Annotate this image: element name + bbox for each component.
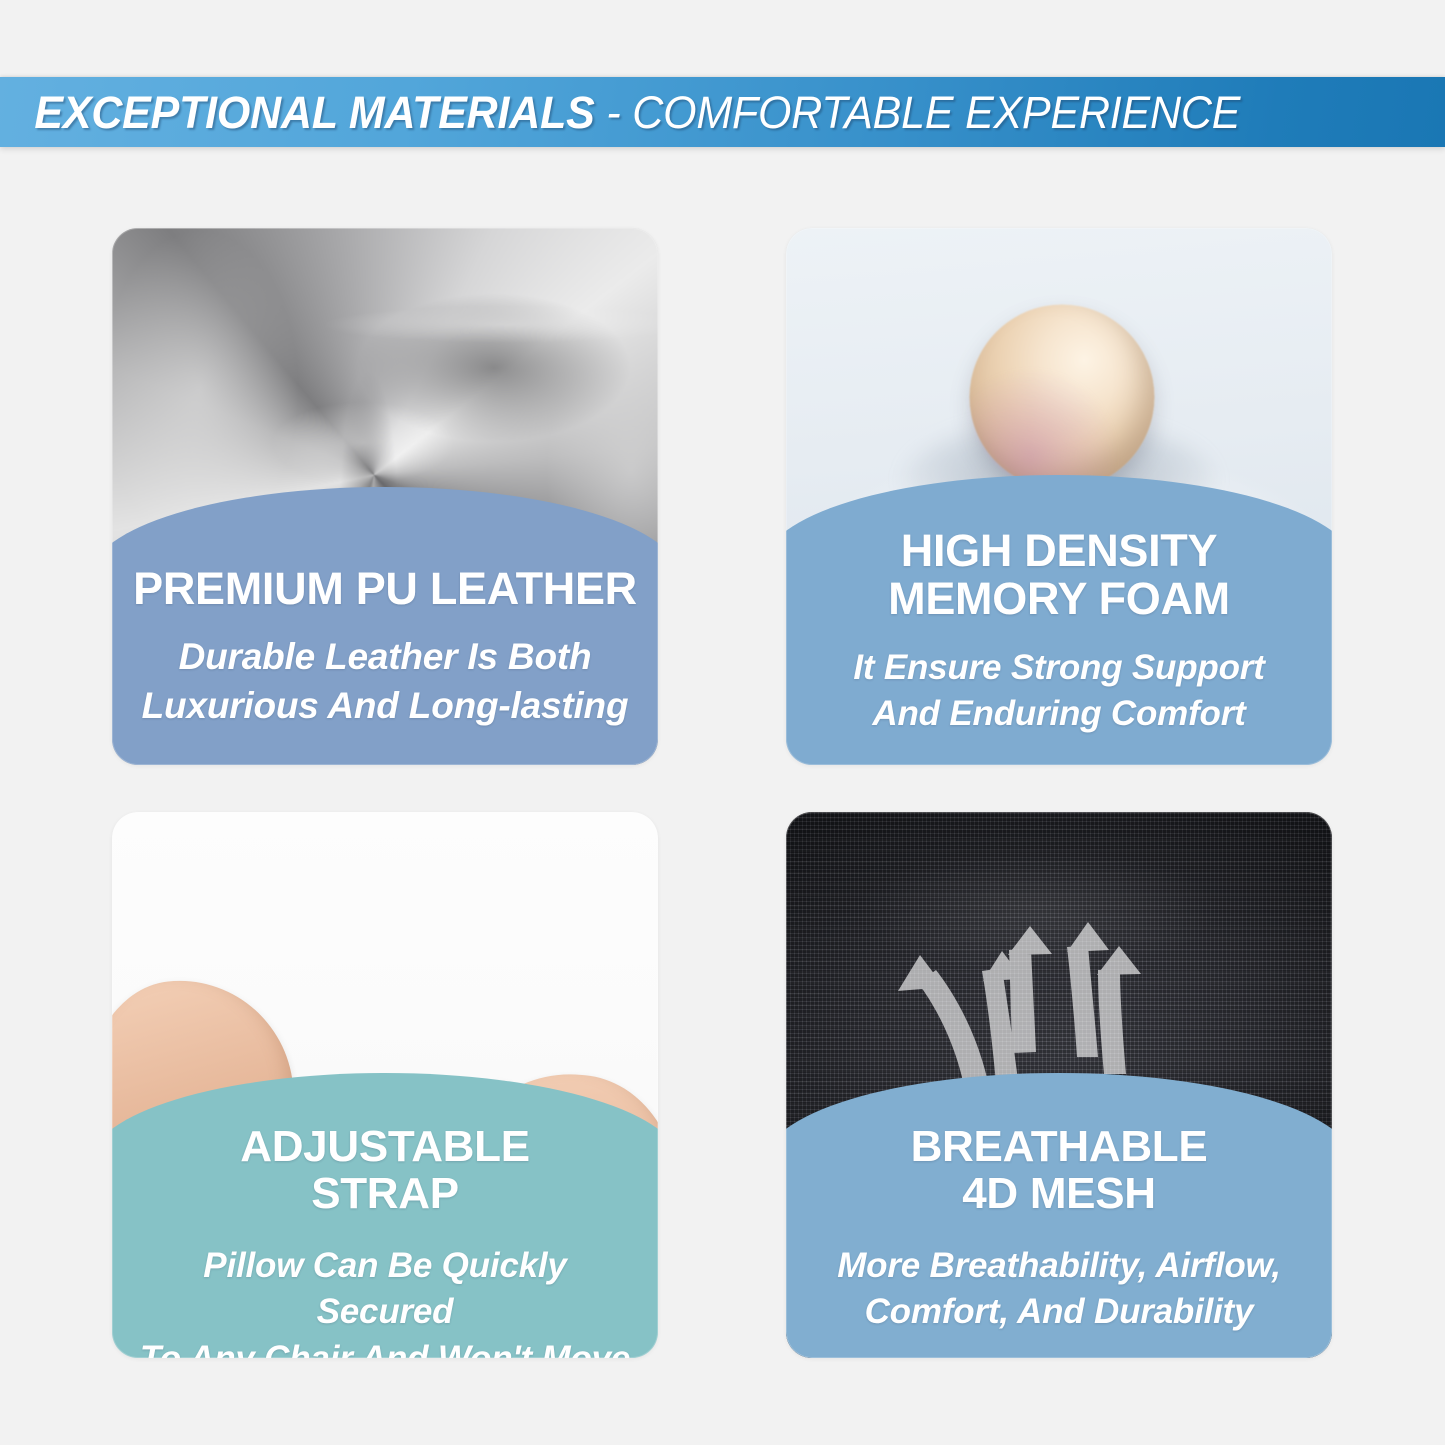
feature-card-adjustable-strap: ADJUSTABLE STRAP Pillow Can Be Quickly S… xyxy=(112,812,658,1358)
card-title-line: PREMIUM PU LEATHER xyxy=(133,565,638,613)
card-title-line: MEMORY FOAM xyxy=(807,575,1312,623)
card-title-line: 4D MESH xyxy=(807,1170,1312,1217)
card-title-line: BREATHABLE xyxy=(807,1123,1312,1170)
banner-title-bold: EXCEPTIONAL MATERIALS xyxy=(34,87,594,138)
card-title-line: ADJUSTABLE xyxy=(133,1123,638,1170)
feature-card-grid: PREMIUM PU LEATHER Durable Leather Is Bo… xyxy=(112,228,1332,1358)
card-subtitle: It Ensure Strong Support And Enduring Co… xyxy=(807,645,1312,737)
card-subtitle-line: Luxurious And Long-lasting xyxy=(133,682,638,731)
card-title: HIGH DENSITY MEMORY FOAM xyxy=(807,527,1312,623)
card-subtitle-line: And Enduring Comfort xyxy=(807,691,1312,737)
caption-overlay: HIGH DENSITY MEMORY FOAM It Ensure Stron… xyxy=(786,475,1332,765)
pearl-ball-pink-reflection xyxy=(969,305,1154,490)
card-title-line: HIGH DENSITY xyxy=(807,527,1312,575)
card-subtitle-line: Pillow Can Be Quickly Secured xyxy=(133,1243,638,1335)
feature-card-breathable-4d-mesh: BREATHABLE 4D MESH More Breathability, A… xyxy=(786,812,1332,1358)
card-subtitle-line: Durable Leather Is Both xyxy=(133,633,638,682)
card-subtitle-line: More Breathability, Airflow, xyxy=(807,1243,1312,1289)
card-subtitle: More Breathability, Airflow, Comfort, An… xyxy=(807,1243,1312,1335)
card-title: PREMIUM PU LEATHER xyxy=(133,565,638,613)
header-banner: EXCEPTIONAL MATERIALS - COMFORTABLE EXPE… xyxy=(0,77,1445,147)
banner-title: EXCEPTIONAL MATERIALS - COMFORTABLE EXPE… xyxy=(0,90,1240,135)
card-title-line: STRAP xyxy=(133,1170,638,1217)
caption-overlay: PREMIUM PU LEATHER Durable Leather Is Bo… xyxy=(112,487,658,765)
card-title: ADJUSTABLE STRAP xyxy=(133,1123,638,1217)
card-subtitle-line: Comfort, And Durability xyxy=(807,1289,1312,1335)
card-subtitle-line: It Ensure Strong Support xyxy=(807,645,1312,691)
card-title: BREATHABLE 4D MESH xyxy=(807,1123,1312,1217)
feature-card-premium-pu-leather: PREMIUM PU LEATHER Durable Leather Is Bo… xyxy=(112,228,658,765)
banner-title-light: COMFORTABLE EXPERIENCE xyxy=(632,87,1240,138)
card-subtitle: Pillow Can Be Quickly Secured To Any Cha… xyxy=(133,1243,638,1358)
banner-title-separator: - xyxy=(595,87,633,138)
caption-overlay: ADJUSTABLE STRAP Pillow Can Be Quickly S… xyxy=(112,1073,658,1358)
caption-overlay: BREATHABLE 4D MESH More Breathability, A… xyxy=(786,1073,1332,1358)
card-subtitle-line: To Any Chair And Won't Move xyxy=(133,1336,638,1358)
card-subtitle: Durable Leather Is Both Luxurious And Lo… xyxy=(133,633,638,731)
feature-card-high-density-memory-foam: HIGH DENSITY MEMORY FOAM It Ensure Stron… xyxy=(786,228,1332,765)
